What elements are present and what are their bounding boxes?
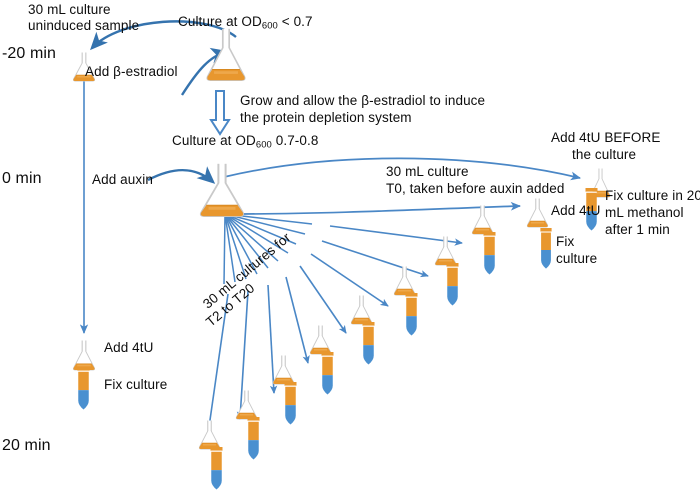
label-culture-od-high: Culture at OD600 0.7-0.8: [172, 133, 318, 150]
tube-sample: [363, 322, 375, 365]
flask-sample: [351, 296, 371, 325]
label-add-4tu-t0: Add 4tU: [551, 203, 600, 220]
label-culture-od-high-sub: 600: [256, 140, 272, 151]
label-4tu-before-line2: the culture: [572, 147, 636, 164]
label-grow-line2: the protein depletion system: [240, 110, 412, 127]
tube-sample: [406, 293, 418, 336]
timeline-label-minus20: -20 min: [2, 44, 56, 63]
label-add-estradiol: Add β-estradiol: [85, 64, 178, 81]
label-fix-culture-left: Fix culture: [104, 377, 167, 394]
flask-culture-od-high: [201, 164, 243, 216]
label-fix-methanol-line3: after 1 min: [605, 222, 670, 239]
flask-sample: [472, 206, 492, 235]
label-fix-culture-t0-line1: Fix: [556, 234, 574, 251]
flask-t0: [527, 199, 547, 228]
flask-culture-od-low: [207, 29, 244, 80]
tube-sample: [211, 447, 223, 490]
label-uninduced-line1: 30 mL culture: [28, 2, 111, 19]
label-culture-od-high-pre: Culture at OD: [172, 133, 256, 148]
flask-uninduced-sample: [73, 341, 94, 370]
flask-sample: [236, 391, 256, 420]
label-add-auxin: Add auxin: [92, 172, 153, 189]
tube-t0: [540, 228, 551, 269]
tube-sample: [484, 232, 496, 275]
label-culture-od-high-post: 0.7-0.8: [272, 133, 319, 148]
label-t0-line2: T0, taken before auxin added: [386, 181, 564, 198]
timeline-label-twenty: 20 min: [2, 436, 51, 455]
tube-sample: [447, 263, 459, 306]
label-fix-culture-t0-line2: culture: [556, 251, 597, 268]
label-culture-od-low: Culture at OD600 < 0.7: [178, 14, 313, 31]
diagram-canvas: -20 min 0 min 20 min 30 mL culture unind…: [0, 0, 700, 492]
label-t0-line1: 30 mL culture: [386, 164, 469, 181]
arrow-to-t0: [232, 206, 520, 214]
flask-sample: [435, 237, 455, 266]
arrow-grow-step: [211, 91, 229, 134]
label-grow-line1: Grow and allow the β-estradiol to induce: [240, 93, 485, 110]
tube-sample: [248, 417, 260, 460]
flask-sample: [199, 421, 219, 450]
label-culture-od-low-post: < 0.7: [278, 14, 313, 29]
tube-sample: [285, 382, 297, 425]
label-culture-od-low-pre: Culture at OD: [178, 14, 262, 29]
label-fix-methanol-line1: Fix culture in 20: [605, 188, 700, 205]
tube-sample: [322, 352, 334, 395]
label-add-4tu-left: Add 4tU: [104, 340, 153, 357]
timeline-label-zero: 0 min: [2, 169, 42, 188]
label-uninduced-line2: uninduced sample: [28, 18, 139, 35]
label-fix-methanol-line2: mL methanol: [605, 205, 684, 222]
flask-sample: [273, 356, 293, 385]
flask-sample: [310, 326, 330, 355]
arrow-add-auxin: [148, 170, 213, 182]
label-4tu-before-line1: Add 4tU BEFORE: [551, 130, 660, 147]
tube-uninduced-sample: [78, 367, 90, 410]
label-culture-od-low-sub: 600: [262, 21, 278, 32]
